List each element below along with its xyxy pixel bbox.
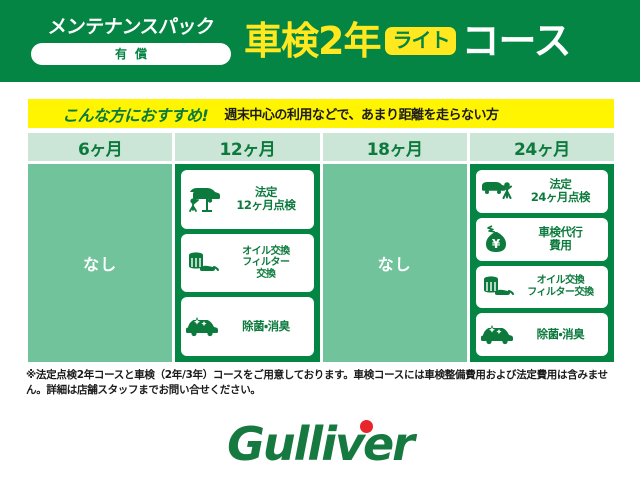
plan-item: ¥車検代行費用 (476, 218, 608, 261)
oil-filter-icon (478, 270, 518, 304)
disclaimer-note: ※法定点検2年コースと車検（2年/3年）コースをご用意しております。車検コースに… (26, 368, 618, 398)
plan-column: 12ヶ月 法定12ヶ月点検 オイル交換フィルター交換 除菌・消臭 (175, 133, 319, 362)
plan-item-label: 除菌・消臭 (518, 328, 606, 341)
plan-item-label: 車検代行費用 (518, 226, 606, 252)
plan-item-label: 法定12ヶ月点検 (223, 186, 311, 212)
brand-logo-text: Gulliver (227, 421, 413, 467)
plan-column: 6ヶ月なし (28, 133, 172, 362)
plan-item-label: オイル交換フィルター交換 (223, 246, 311, 281)
recommend-title: こんな方におすすめ! (62, 102, 208, 126)
plan-empty-label: なし (378, 251, 412, 275)
brand-logo-label: Gulliver (227, 417, 413, 471)
brand-logo: Gulliver (0, 418, 640, 470)
car-sparkle-icon (183, 310, 223, 344)
plan-item-label: 除菌・消臭 (223, 320, 311, 333)
plan-column-header-label: 12ヶ月 (220, 135, 276, 160)
plan-item: 除菌・消臭 (476, 313, 608, 356)
plan-item: 法定24ヶ月点検 (476, 170, 608, 213)
car-sparkle-icon (478, 318, 518, 352)
maintenance-pack-label: メンテナンスパック (47, 18, 215, 37)
plan-column-empty: なし (28, 164, 172, 362)
plan-column-header: 24ヶ月 (470, 133, 614, 161)
plan-column-items: 法定24ヶ月点検 ¥車検代行費用 オイル交換フィルター交換 除菌・消臭 (470, 164, 614, 362)
plan-column-header: 12ヶ月 (175, 133, 319, 161)
plan-item: オイル交換フィルター交換 (181, 234, 313, 293)
recommend-bar: こんな方におすすめ! 週末中心の利用などで、あまり距離を走らない方 (28, 99, 614, 128)
recommend-description: 週末中心の利用などで、あまり距離を走らない方 (224, 104, 498, 123)
paid-badge: 有償 (31, 43, 231, 65)
plan-empty-label: なし (83, 251, 117, 275)
plan-column: 24ヶ月 法定24ヶ月点検 ¥車検代行費用 オイル交換フィルター交換 除菌・消臭 (470, 133, 614, 362)
plan-item-label: 法定24ヶ月点検 (518, 178, 606, 204)
header-maintenance-group: メンテナンスパック 有償 (24, 18, 238, 65)
header-banner: メンテナンスパック 有償 車検2年 ライト コース (0, 0, 640, 82)
plan-column-header-label: 18ヶ月 (367, 135, 423, 160)
plan-column-items: 法定12ヶ月点検 オイル交換フィルター交換 除菌・消臭 (175, 164, 319, 362)
plan-column-header-label: 6ヶ月 (78, 135, 122, 160)
oil-filter-icon (183, 246, 223, 280)
plan-column-empty: なし (323, 164, 467, 362)
plan-item: 除菌・消臭 (181, 297, 313, 356)
plan-column-header: 6ヶ月 (28, 133, 172, 161)
plan-column-header-label: 24ヶ月 (514, 135, 570, 160)
light-badge: ライト (385, 27, 456, 55)
plan-item-label: オイル交換フィルター交換 (518, 275, 606, 298)
course-title-main: 車検2年 (244, 22, 380, 60)
svg-text:¥: ¥ (492, 237, 501, 251)
plan-item: オイル交換フィルター交換 (476, 266, 608, 309)
plan-item: 法定12ヶ月点検 (181, 170, 313, 229)
car-lift-inspection-icon (183, 182, 223, 216)
header-title-group: 車検2年 ライト コース (244, 22, 640, 60)
plan-column: 18ヶ月なし (323, 133, 467, 362)
paid-badge-label: 有償 (107, 48, 155, 60)
plan-table: 6ヶ月なし12ヶ月 法定12ヶ月点検 オイル交換フィルター交換 除菌・消臭18ヶ… (28, 133, 614, 362)
course-title-suffix: コース (461, 22, 570, 60)
money-bag-yen-icon: ¥ (478, 222, 518, 256)
car-inspector-icon (478, 174, 518, 208)
plan-column-header: 18ヶ月 (323, 133, 467, 161)
